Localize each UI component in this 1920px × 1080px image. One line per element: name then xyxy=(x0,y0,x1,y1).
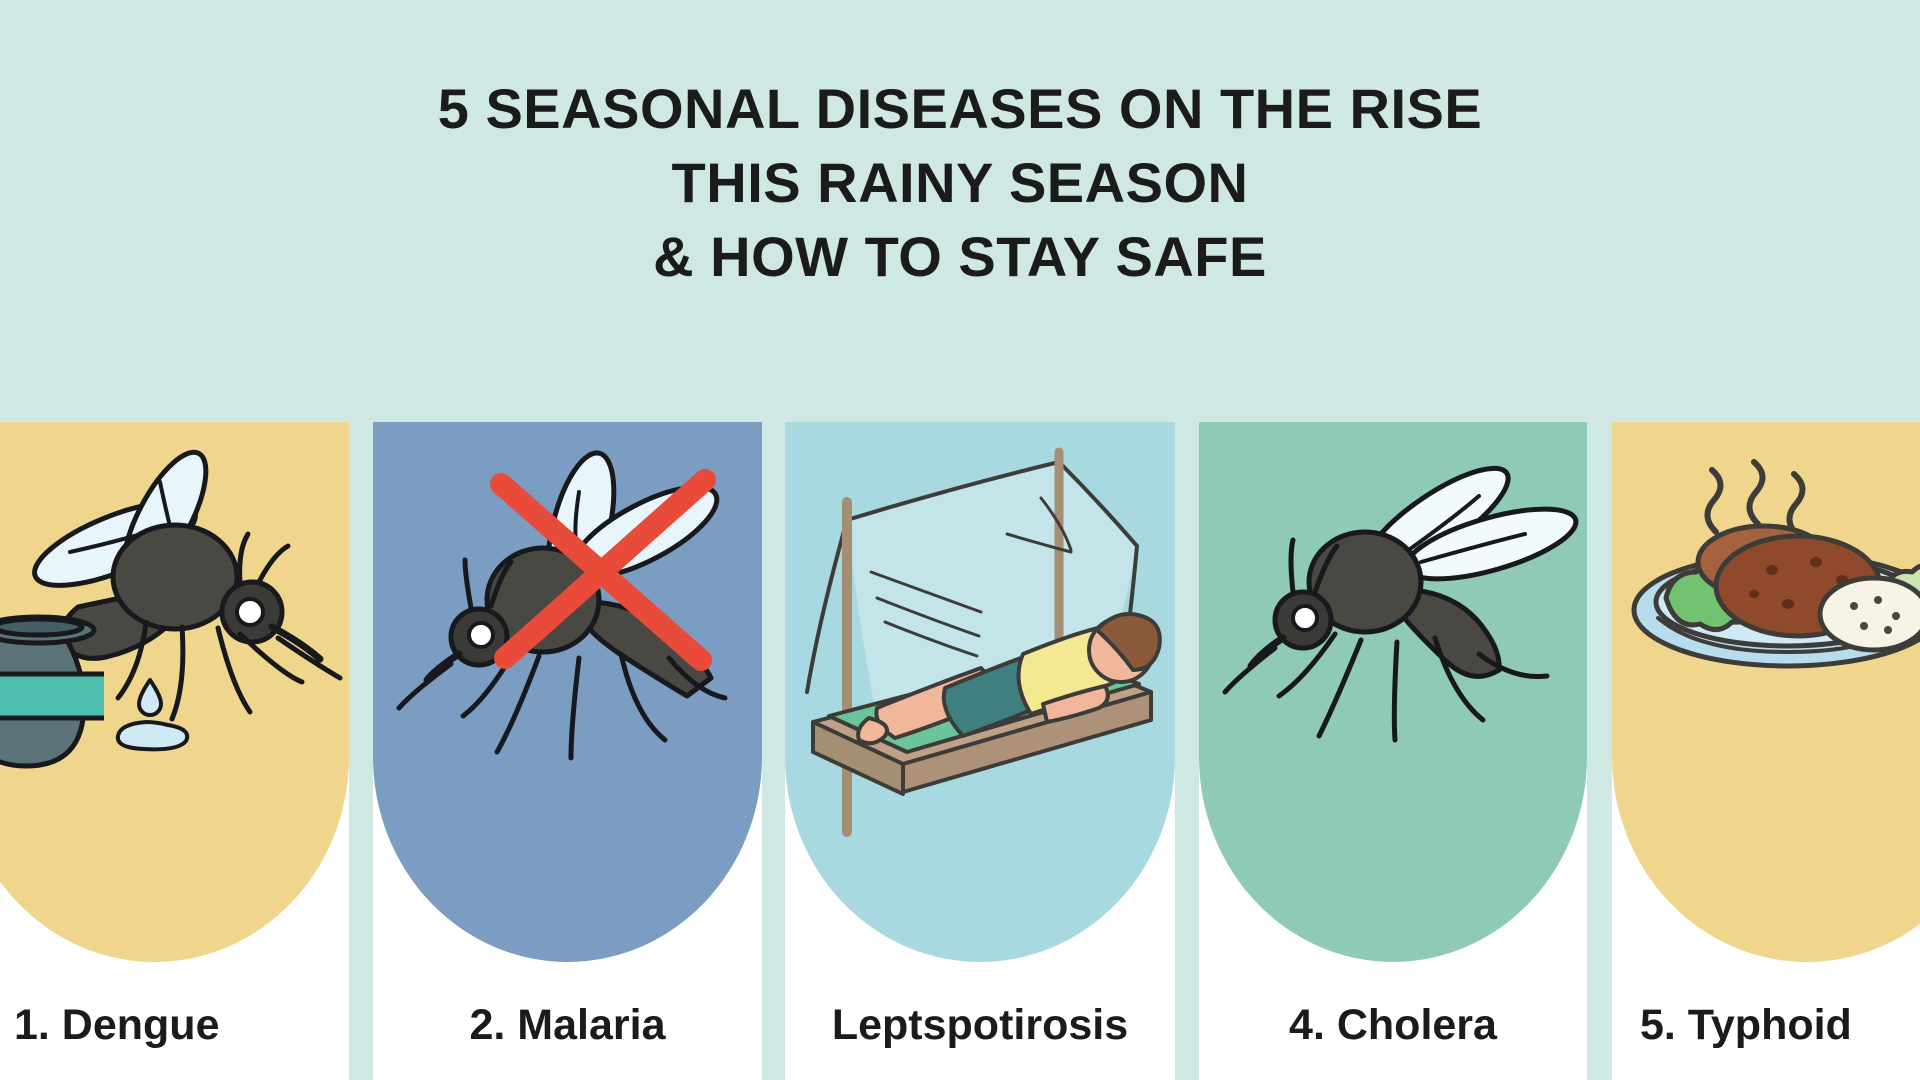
gutter-strip-2 xyxy=(762,422,785,1080)
disease-label-cholera: 4. Cholera xyxy=(1199,990,1587,1060)
gutter-strip-1 xyxy=(349,422,373,1080)
page-title-line-3: & HOW TO STAY SAFE xyxy=(653,220,1267,294)
disease-label-typhoid-text: 5. Typhoid xyxy=(1640,1001,1852,1050)
disease-label-typhoid: 5. Typhoid xyxy=(1640,990,1920,1060)
disease-label-malaria: 2. Malaria xyxy=(373,990,762,1060)
page-title-line-1: 5 SEASONAL DISEASES ON THE RISE xyxy=(438,72,1482,146)
disease-card-typhoid[interactable] xyxy=(1612,422,1920,962)
page-title-line-2: THIS RAINY SEASON xyxy=(672,146,1249,220)
disease-label-cholera-text: 4. Cholera xyxy=(1289,1001,1497,1050)
person-sleeping-under-mosquito-net-icon xyxy=(785,422,1175,962)
disease-label-malaria-text: 2. Malaria xyxy=(470,1001,666,1050)
gutter-strip-3 xyxy=(1175,422,1199,1080)
disease-label-leptospirosis-text: Leptspotirosis xyxy=(832,1001,1128,1050)
disease-label-dengue: 1. Dengue xyxy=(14,990,349,1060)
mosquito-with-water-pot-icon xyxy=(0,422,349,962)
mosquito-icon xyxy=(1199,422,1587,962)
disease-card-strip: 1. Dengue 2. Malaria Leptspotirosis 4. C… xyxy=(0,422,1920,1080)
disease-card-cholera[interactable] xyxy=(1199,422,1587,962)
mosquito-crossed-out-icon xyxy=(373,422,762,962)
disease-card-malaria[interactable] xyxy=(373,422,762,962)
hot-cooked-food-on-plate-icon xyxy=(1612,422,1920,962)
disease-card-dengue[interactable] xyxy=(0,422,349,962)
gutter-strip-4 xyxy=(1587,422,1612,1080)
header-banner: 5 SEASONAL DISEASES ON THE RISE THIS RAI… xyxy=(0,0,1920,422)
disease-label-dengue-text: 1. Dengue xyxy=(14,1001,220,1050)
disease-card-leptospirosis[interactable] xyxy=(785,422,1175,962)
disease-label-leptospirosis: Leptspotirosis xyxy=(785,990,1175,1060)
